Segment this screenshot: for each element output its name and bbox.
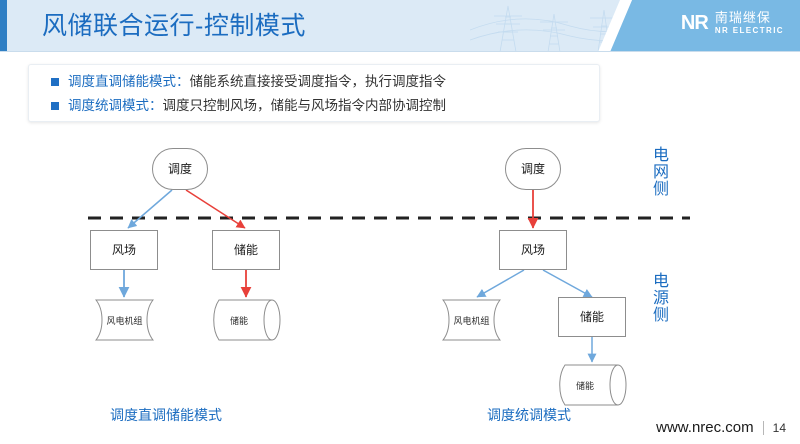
slide-footer: www.nrec.com 14 xyxy=(656,419,786,436)
side-label-grid: 电网侧 xyxy=(648,146,669,197)
arrow-right-windfarm-to-windunit xyxy=(477,270,524,297)
node-right-storage-cylinder-label: 储能 xyxy=(558,365,626,405)
node-right-dispatch[interactable]: 调度 xyxy=(505,148,561,190)
node-right-wind-farm-label: 风场 xyxy=(521,244,545,256)
node-left-storage-cylinder-label: 储能 xyxy=(212,300,280,340)
node-right-wind-unit[interactable]: 风电机组 xyxy=(443,300,500,340)
node-right-wind-farm[interactable]: 风场 xyxy=(499,230,567,270)
node-left-dispatch-label: 调度 xyxy=(168,163,192,175)
node-left-storage-cylinder[interactable]: 储能 xyxy=(212,300,280,340)
footer-page-number: 14 xyxy=(773,421,786,435)
diagram-area: 调度 风场 储能 风电机组 储能 调度 风场 风电机组 储能 储能 电 xyxy=(0,0,800,444)
node-left-storage-label: 储能 xyxy=(234,244,258,256)
node-left-wind-farm-label: 风场 xyxy=(112,244,136,256)
node-left-storage[interactable]: 储能 xyxy=(212,230,280,270)
node-right-storage[interactable]: 储能 xyxy=(558,297,626,337)
footer-url[interactable]: www.nrec.com xyxy=(656,419,754,436)
diagram-connectors xyxy=(0,0,800,444)
node-right-storage-label: 储能 xyxy=(580,311,604,323)
side-label-source: 电源侧 xyxy=(648,272,669,323)
node-left-dispatch[interactable]: 调度 xyxy=(152,148,208,190)
caption-left-diagram: 调度直调储能模式 xyxy=(110,405,222,425)
node-right-dispatch-label: 调度 xyxy=(521,163,545,175)
node-right-storage-cylinder[interactable]: 储能 xyxy=(558,365,626,405)
slide: 风储联合运行-控制模式 NR 南瑞继保 NR ELECTRIC 调度直调储能模式… xyxy=(0,0,800,444)
node-right-wind-unit-label: 风电机组 xyxy=(443,300,500,340)
node-left-wind-unit[interactable]: 风电机组 xyxy=(96,300,153,340)
arrow-left-dispatch-to-storage xyxy=(186,190,245,228)
node-left-wind-farm[interactable]: 风场 xyxy=(90,230,158,270)
caption-right-diagram: 调度统调模式 xyxy=(487,405,571,425)
arrow-left-dispatch-to-windfarm xyxy=(128,190,172,228)
footer-separator xyxy=(763,421,764,435)
arrow-right-windfarm-to-storage xyxy=(543,270,592,297)
node-left-wind-unit-label: 风电机组 xyxy=(96,300,153,340)
